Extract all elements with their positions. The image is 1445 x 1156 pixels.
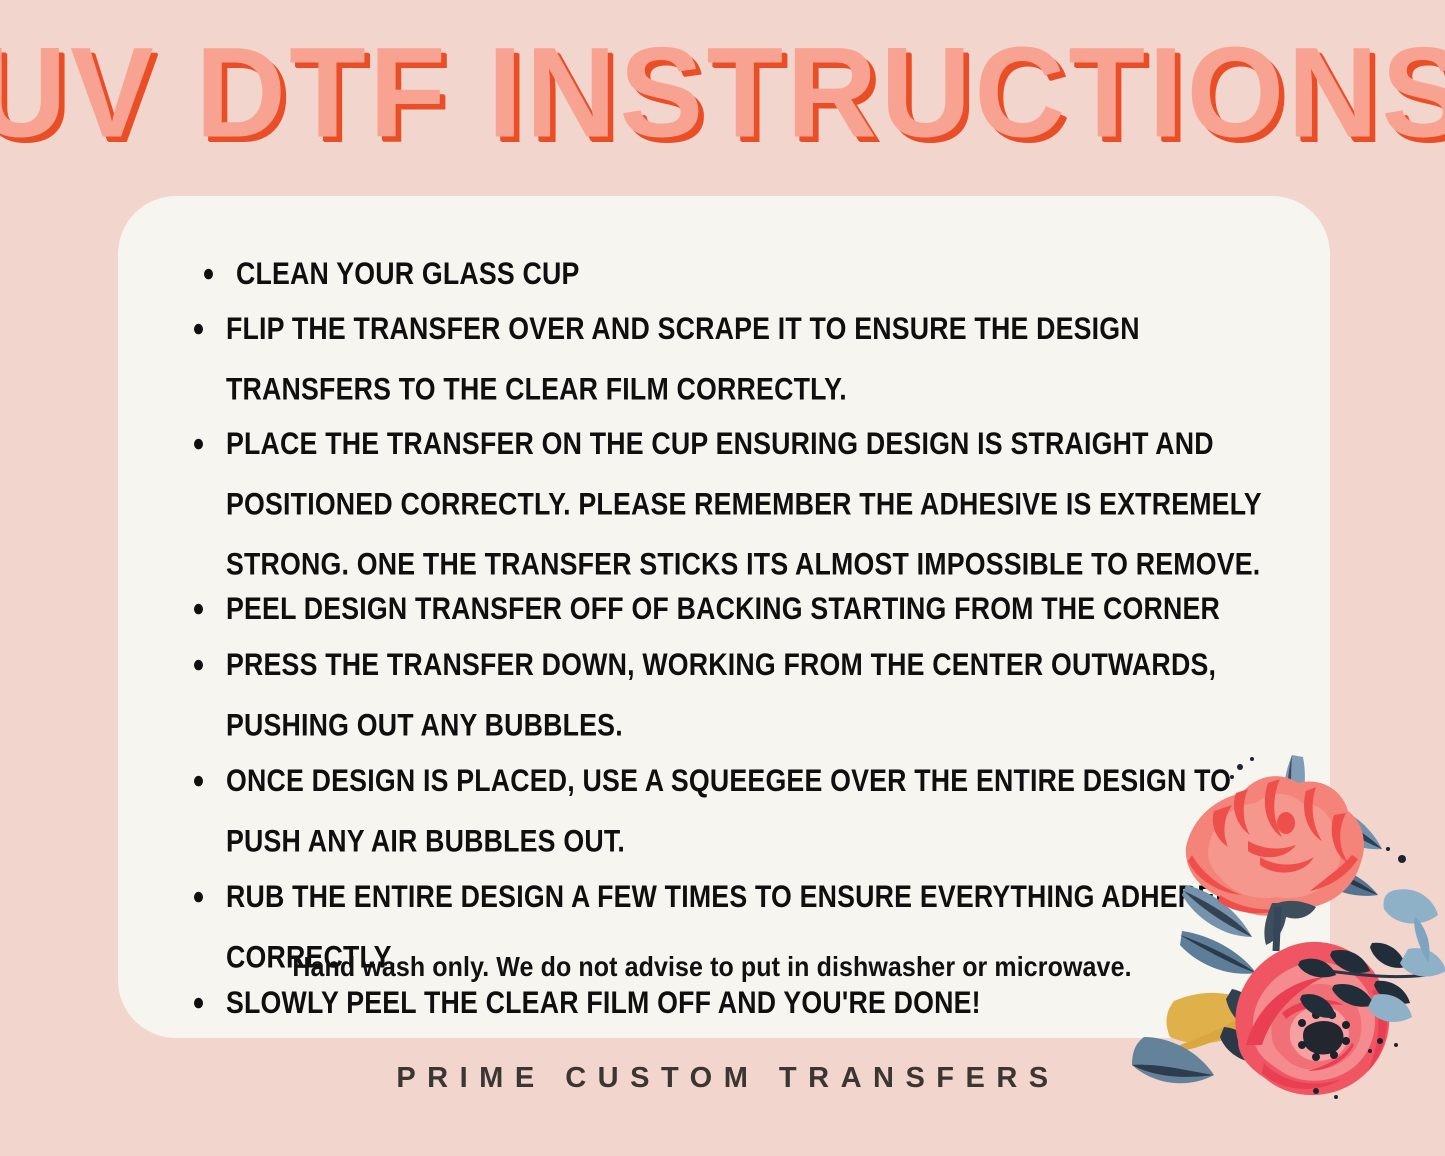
list-item: Place the transfer on the cup ensuring d…	[180, 414, 1304, 595]
bullet-icon	[194, 604, 203, 615]
step-text: Flip the transfer over and scrape it to …	[226, 299, 1293, 419]
page-title-container: UV DTF INSTRUCTIONS	[0, 34, 1445, 152]
instruction-steps-list: Clean your glass cup Flip the transfer o…	[180, 244, 1304, 1024]
instruction-card-page: UV DTF INSTRUCTIONS Clean your glass cup…	[0, 0, 1445, 1156]
step-text: Place the transfer on the cup ensuring d…	[226, 414, 1293, 595]
step-text: Peel design transfer off of backing star…	[226, 579, 1293, 639]
page-title: UV DTF INSTRUCTIONS	[0, 26, 1445, 160]
list-item: Peel design transfer off of backing star…	[180, 579, 1304, 639]
list-item: Clean your glass cup	[180, 244, 1304, 304]
instructions-card: Clean your glass cup Flip the transfer o…	[118, 196, 1330, 1038]
bullet-icon	[204, 269, 213, 280]
list-item: Once design is placed, use a squeegee ov…	[180, 751, 1304, 871]
step-text: Press the transfer down, working from th…	[226, 635, 1293, 755]
step-text: Once design is placed, use a squeegee ov…	[226, 751, 1293, 871]
bullet-icon	[194, 776, 203, 787]
step-text: Clean your glass cup	[236, 244, 1293, 304]
brand-footer: PRIME CUSTOM TRANSFERS	[0, 1062, 1445, 1095]
list-item: Flip the transfer over and scrape it to …	[180, 299, 1304, 419]
bullet-icon	[194, 439, 203, 450]
bullet-icon	[194, 660, 203, 671]
bullet-icon	[194, 892, 203, 903]
bullet-icon	[194, 324, 203, 335]
care-footnote-text: Hand wash only. We do not advise to put …	[292, 951, 1131, 983]
list-item: Press the transfer down, working from th…	[180, 635, 1304, 755]
care-footnote: Hand wash only. We do not advise to put …	[118, 953, 1330, 982]
bullet-icon	[194, 998, 203, 1009]
